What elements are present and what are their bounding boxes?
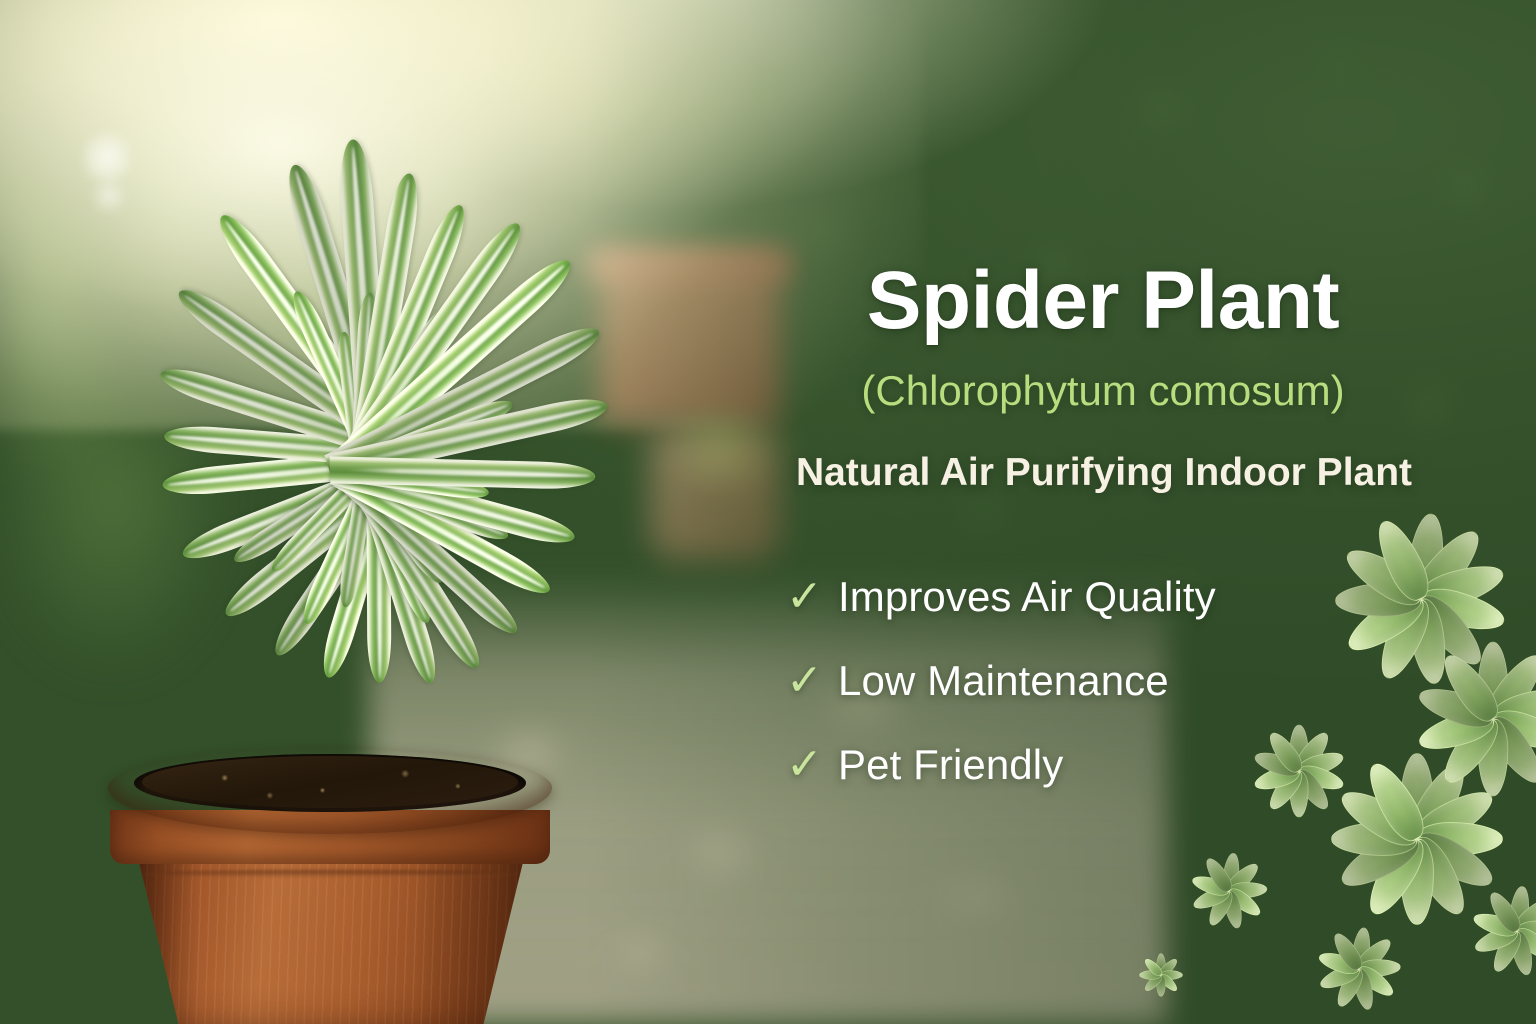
terracotta-pot: [108, 748, 552, 1024]
check-icon: ✓: [786, 659, 838, 703]
pot-body: [138, 858, 524, 1024]
check-icon: ✓: [786, 743, 838, 787]
list-item: ✓ Improves Air Quality: [786, 555, 1426, 639]
pot-groove: [142, 870, 520, 878]
benefits-list: ✓ Improves Air Quality ✓ Low Maintenance…: [786, 555, 1426, 807]
list-item: ✓ Low Maintenance: [786, 639, 1426, 723]
potting-soil: [142, 756, 518, 808]
page-title: Spider Plant: [700, 258, 1506, 343]
spider-plant-foliage: [0, 60, 720, 820]
benefit-label: Low Maintenance: [838, 657, 1169, 705]
promotional-banner: Spider Plant (Chlorophytum comosum) Natu…: [0, 0, 1536, 1024]
benefit-label: Pet Friendly: [838, 741, 1063, 789]
copy-block: Spider Plant (Chlorophytum comosum) Natu…: [700, 0, 1536, 1024]
tagline: Natural Air Purifying Indoor Plant: [700, 450, 1508, 497]
list-item: ✓ Pet Friendly: [786, 723, 1426, 807]
check-icon: ✓: [786, 575, 838, 619]
scientific-name: (Chlorophytum comosum): [700, 366, 1506, 416]
benefit-label: Improves Air Quality: [838, 573, 1216, 621]
